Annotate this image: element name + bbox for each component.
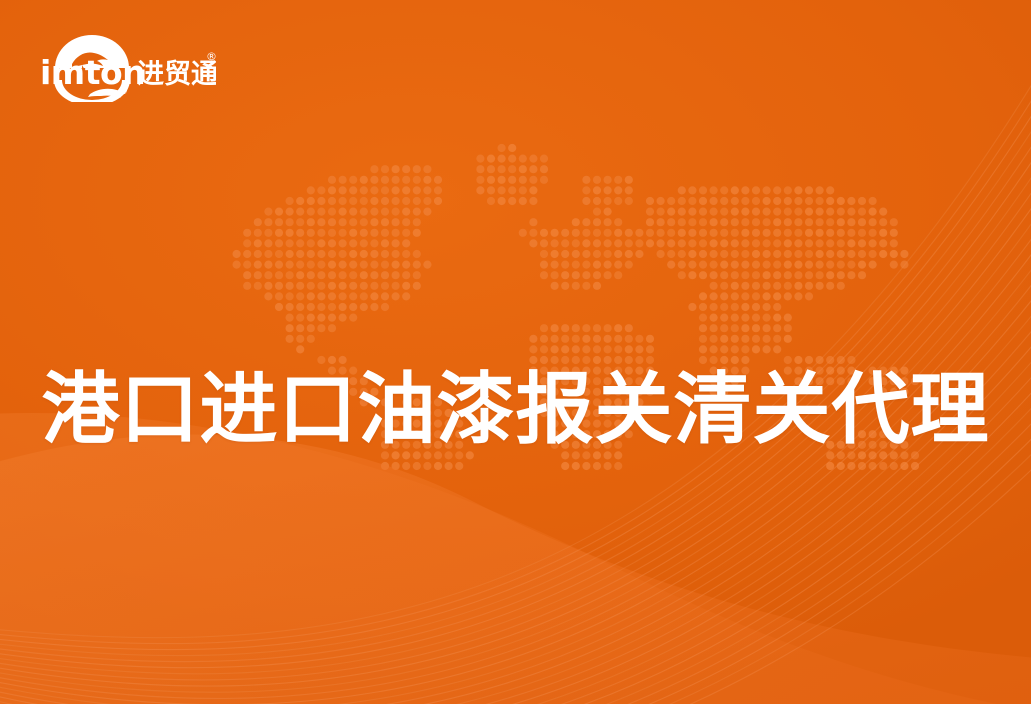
- wave-band-lower: [0, 434, 1031, 704]
- registered-trademark-icon: ®: [206, 50, 216, 63]
- logo-chinese-name: 进贸通: [137, 59, 216, 90]
- wave-decoration: [0, 0, 1031, 704]
- world-map-dots-decoration: [0, 0, 1031, 704]
- background-fill: [0, 0, 1031, 704]
- promo-banner: imton 进贸通 ® 港口进口油漆报关清关代理: [0, 0, 1031, 704]
- logo-wordmark: imton: [40, 53, 145, 92]
- brand-logo[interactable]: imton 进贸通 ®: [38, 28, 216, 102]
- page-title: 港口进口油漆报关清关代理: [0, 362, 1031, 458]
